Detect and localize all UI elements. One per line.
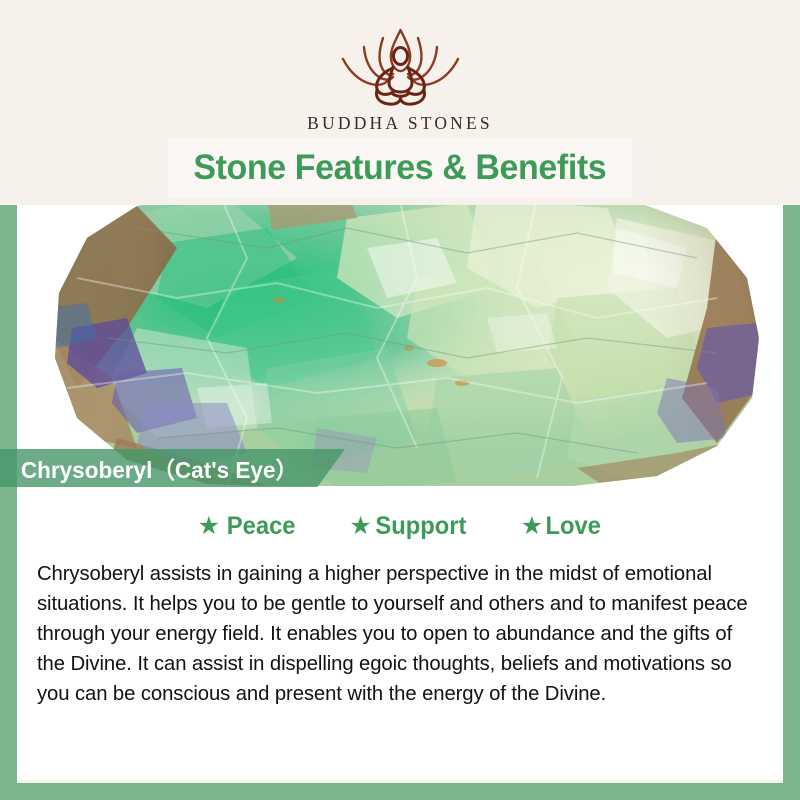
stone-name-banner: Chrysoberyl（Cat's Eye） xyxy=(0,449,345,487)
keyword-love: ★ Love xyxy=(521,512,603,541)
page-title-plate: Stone Features & Benefits xyxy=(168,138,632,198)
keyword-support: ★ Support xyxy=(349,512,468,541)
keyword-list: ★ Peace ★ Support ★ Love xyxy=(17,486,783,541)
keyword-label: Peace xyxy=(227,512,296,541)
star-icon: ★ xyxy=(198,514,220,539)
brand-wordmark: BUDDHA STONES xyxy=(307,113,493,134)
stone-photo xyxy=(17,196,783,486)
stone-name-label: Chrysoberyl（Cat's Eye） xyxy=(21,451,298,485)
keyword-peace: ★ Peace xyxy=(198,512,298,541)
keyword-label: Support xyxy=(375,512,466,541)
content-card: ★ Peace ★ Support ★ Love Chrysoberyl ass… xyxy=(17,486,783,780)
keyword-label: Love xyxy=(545,512,600,541)
star-icon: ★ xyxy=(521,514,543,539)
page-title: Stone Features & Benefits xyxy=(194,148,607,188)
stone-info-card: Chrysoberyl（Cat's Eye） xyxy=(0,0,800,800)
star-icon: ★ xyxy=(349,514,371,539)
stone-description: Chrysoberyl assists in gaining a higher … xyxy=(37,559,756,709)
lotus-meditation-icon xyxy=(313,26,488,108)
stone-photo-image xyxy=(17,196,783,486)
